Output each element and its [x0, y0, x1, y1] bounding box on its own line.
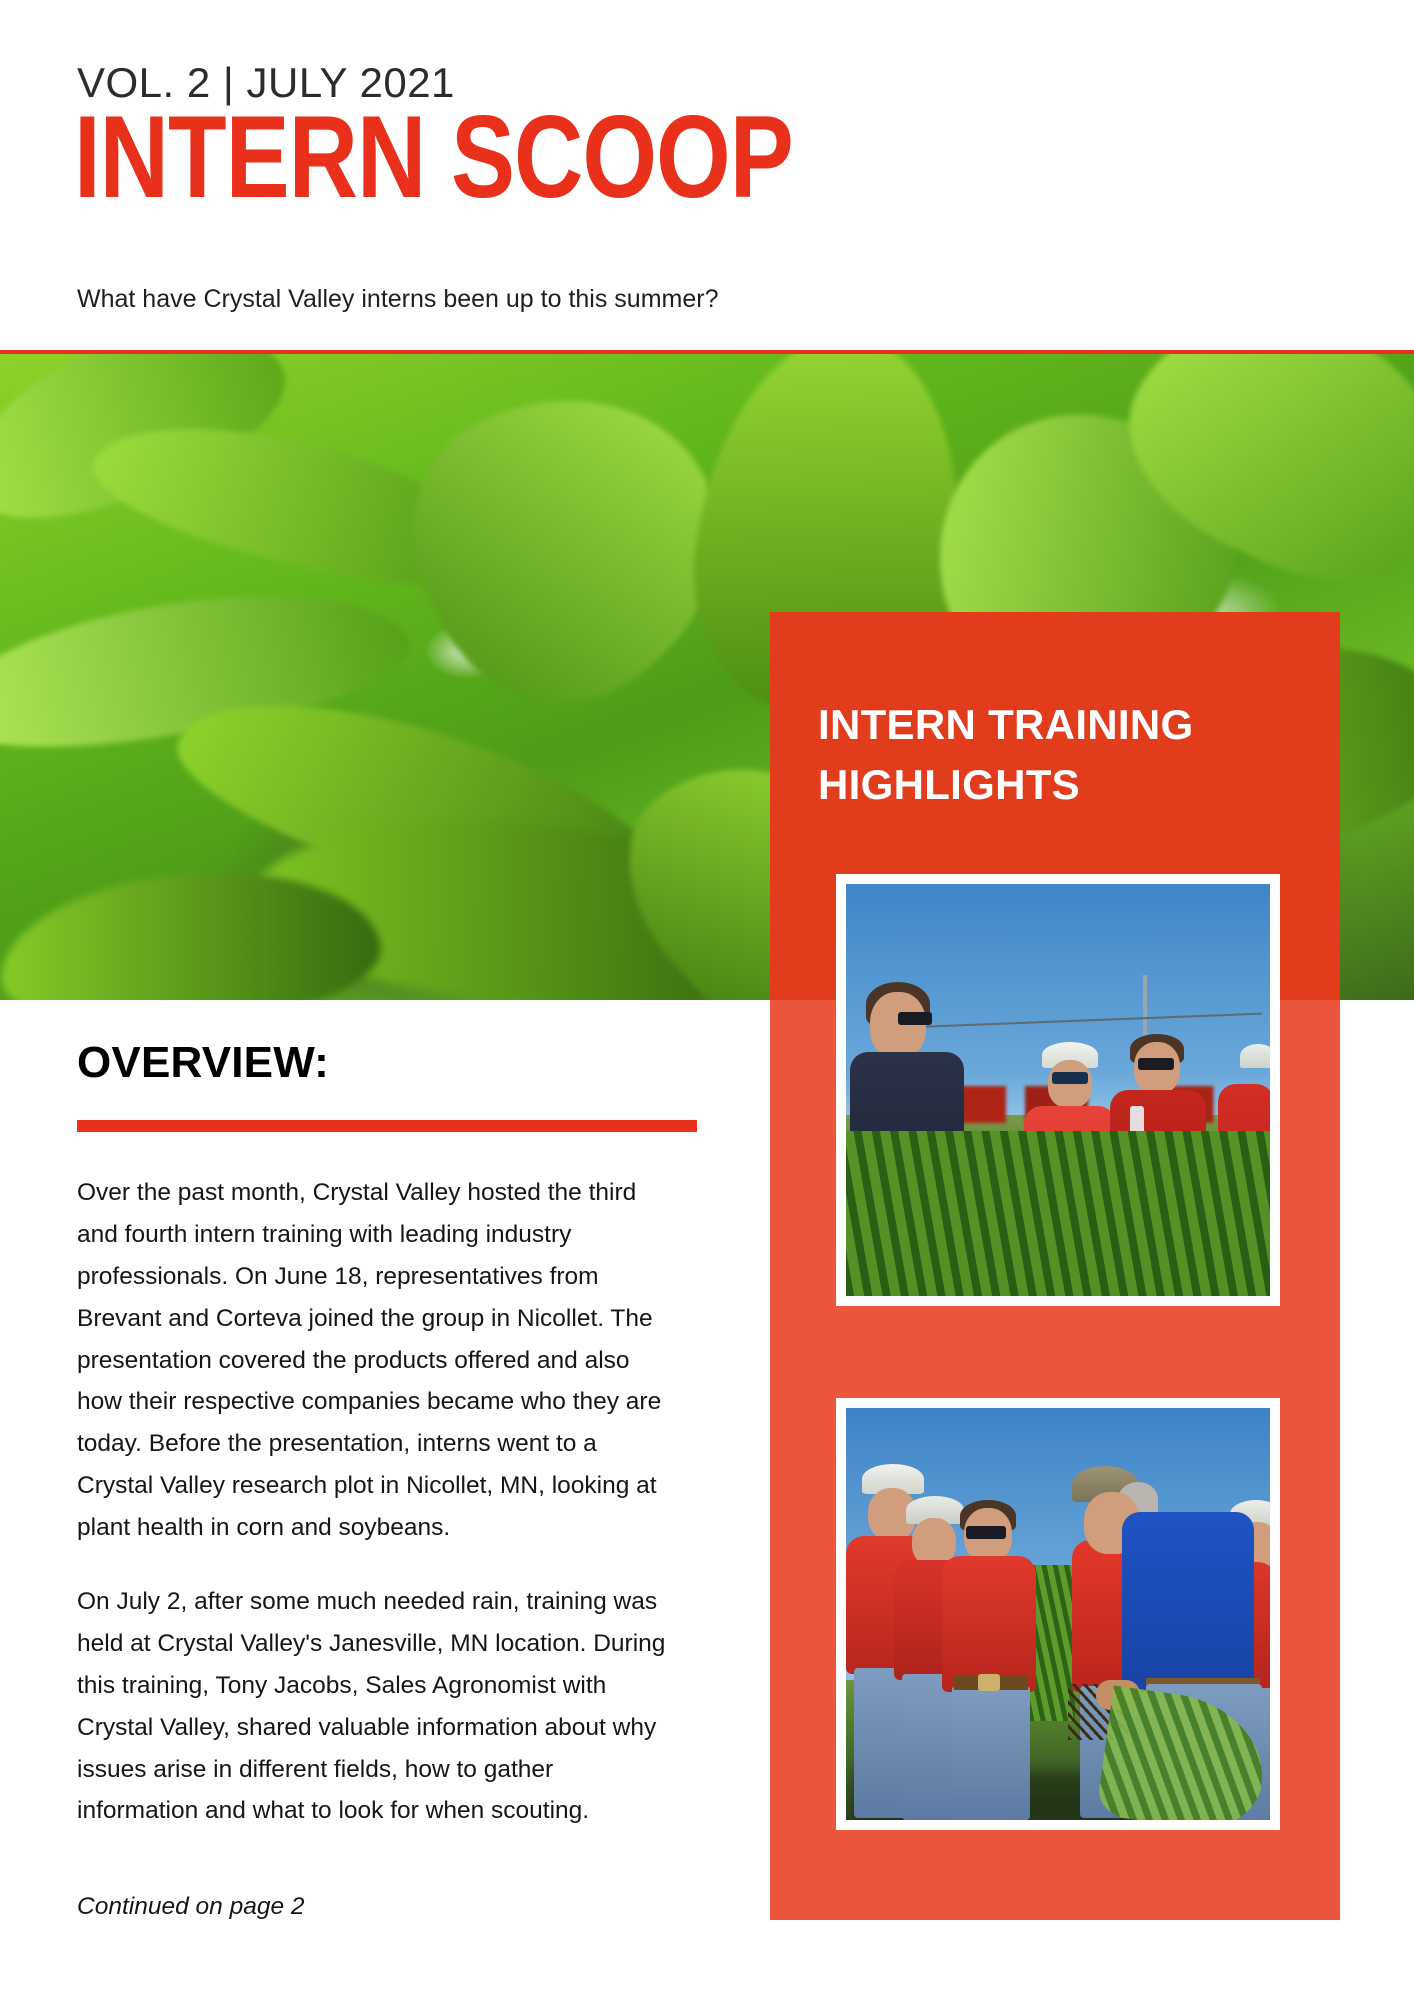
page-title: INTERN SCOOP	[74, 99, 793, 216]
newsletter-page: VOL. 2 | JULY 2021 INTERN SCOOP What hav…	[0, 0, 1414, 2000]
article-body: Over the past month, Crystal Valley host…	[77, 1172, 677, 1864]
overview-heading: OVERVIEW:	[77, 1038, 329, 1088]
overview-underline	[77, 1120, 697, 1132]
belt-buckle-icon	[978, 1674, 1000, 1691]
agronomist-scouting-demo-photo	[846, 1408, 1270, 1820]
sunglasses-icon	[898, 1012, 932, 1025]
continued-note: Continued on page 2	[77, 1893, 305, 1921]
red-polo-shirt	[942, 1556, 1036, 1692]
blue-polo-shirt	[1122, 1512, 1254, 1692]
article-paragraph: Over the past month, Crystal Valley host…	[77, 1172, 677, 1549]
head-shape	[1048, 1060, 1092, 1108]
masthead-tagline: What have Crystal Valley interns been up…	[77, 285, 719, 314]
sunglasses-icon	[1052, 1072, 1088, 1084]
jeans-shape	[952, 1686, 1030, 1820]
head-shape	[870, 992, 926, 1058]
baseball-cap-icon	[1240, 1044, 1270, 1068]
foreground-corn-canopy	[846, 1131, 1270, 1296]
article-paragraph: On July 2, after some much needed rain, …	[77, 1581, 677, 1832]
sunglasses-icon	[1138, 1058, 1174, 1070]
highlights-panel-heading: INTERN TRAINING HIGHLIGHTS	[818, 695, 1298, 814]
power-line-icon	[880, 1013, 1261, 1030]
masthead: VOL. 2 | JULY 2021 INTERN SCOOP What hav…	[0, 0, 1414, 352]
intern-training-corn-plot-photo	[846, 884, 1270, 1296]
highlight-photo-frame	[836, 1398, 1280, 1830]
sunglasses-icon	[966, 1526, 1006, 1539]
highlight-photo-frame	[836, 874, 1280, 1306]
